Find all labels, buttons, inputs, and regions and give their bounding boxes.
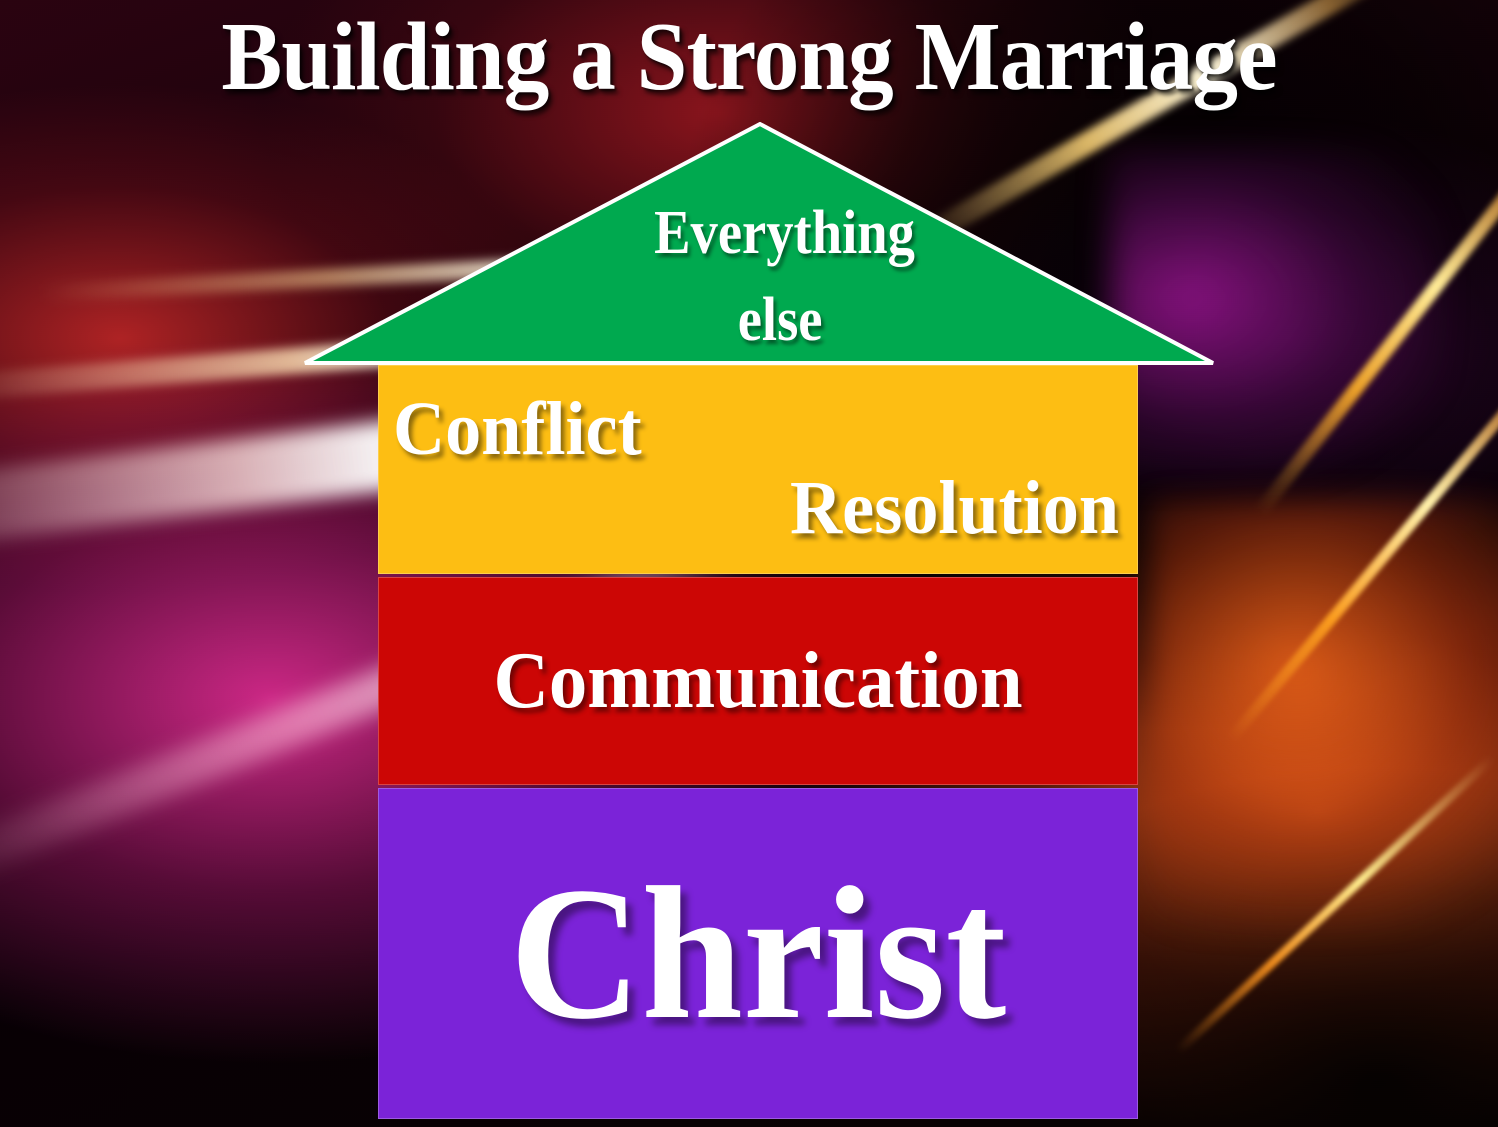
conflict-resolution-line-1: Conflict	[393, 390, 1083, 468]
christ-label: Christ	[408, 859, 1109, 1049]
communication-label: Communication	[408, 641, 1109, 721]
layer-christ: Christ	[378, 788, 1138, 1119]
layer-communication: Communication	[378, 577, 1138, 785]
slide-canvas: Building a Strong Marriage Everything el…	[0, 0, 1498, 1127]
page-title: Building a Strong Marriage	[52, 8, 1445, 106]
roof-label: Everything else	[358, 190, 1161, 364]
roof-label-line-2: else	[358, 277, 1161, 364]
roof-label-line-1: Everything	[358, 190, 1161, 277]
conflict-resolution-line-2: Resolution	[429, 468, 1119, 549]
layer-conflict-resolution: Conflict Resolution	[378, 365, 1138, 574]
